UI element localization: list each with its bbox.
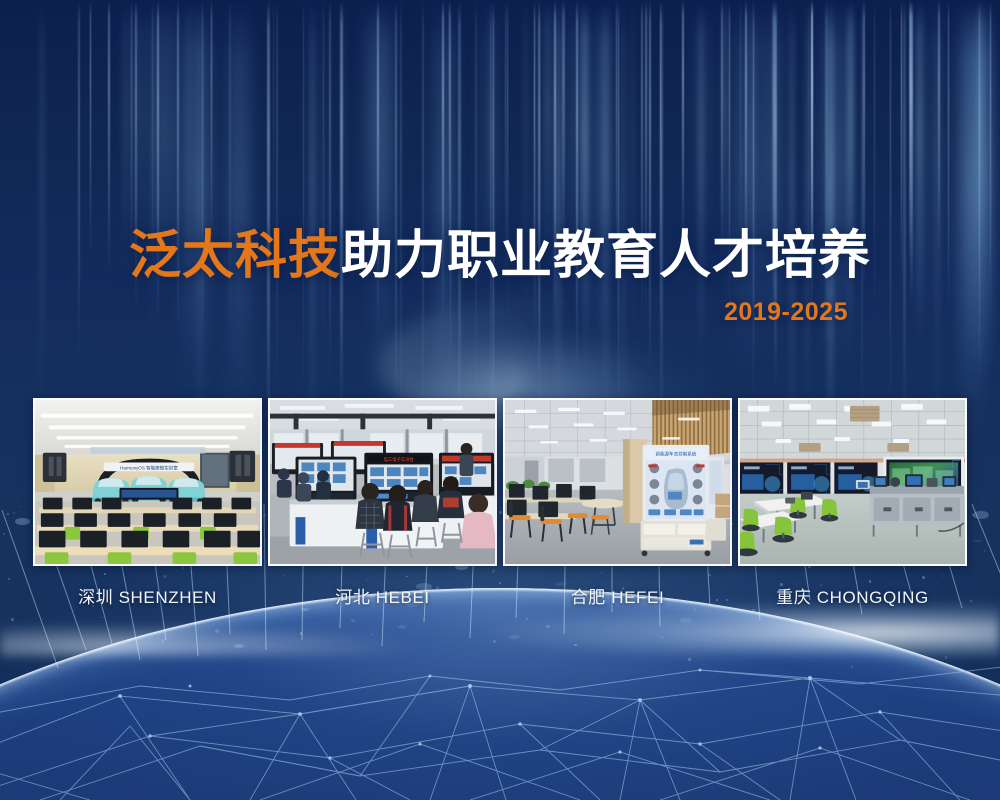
caption-chongqing: 重庆 CHONGQING	[738, 583, 967, 613]
gallery-photo-hebei[interactable]: 电工电子实训台	[268, 398, 497, 566]
gallery-photo-chongqing[interactable]	[738, 398, 967, 566]
gallery-photo-shenzhen[interactable]: HarmonyOS 智能座舱实训室	[33, 398, 262, 566]
photo-hefei-image: 新能源车总控制系统	[505, 400, 730, 564]
poster-stage: 泛太科技助力职业教育人才培养 2019-2025	[0, 0, 1000, 800]
caption-hebei: 河北 HEBEI	[268, 583, 497, 613]
globe-sphere	[0, 588, 1000, 800]
title-block: 泛太科技助力职业教育人才培养 2019-2025	[0, 228, 1000, 327]
caption-hefei: 合肥 HEFEI	[503, 583, 732, 613]
globe-rim-glow	[0, 588, 1000, 800]
photo-captions: 深圳 SHENZHEN 河北 HEBEI 合肥 HEFEI 重庆 CHONGQI…	[33, 583, 967, 613]
photo-shenzhen-image: HarmonyOS 智能座舱实训室	[35, 400, 260, 564]
page-title-brand: 泛太科技	[129, 227, 341, 285]
page-title-rest: 助力职业教育人才培养	[341, 227, 871, 285]
photo-hebei-image: 电工电子实训台	[270, 400, 495, 564]
year-range: 2019-2025	[0, 298, 1000, 327]
page-title: 泛太科技助力职业教育人才培养	[0, 228, 1000, 284]
caption-shenzhen: 深圳 SHENZHEN	[33, 583, 262, 613]
svg-text:新能源车总控制系统: 新能源车总控制系统	[656, 451, 697, 458]
photo-gallery: HarmonyOS 智能座舱实训室	[33, 398, 967, 566]
svg-text:HarmonyOS 智能座舱实训室: HarmonyOS 智能座舱实训室	[120, 464, 178, 471]
gallery-photo-hefei[interactable]: 新能源车总控制系统	[503, 398, 732, 566]
photo-chongqing-image	[740, 400, 965, 564]
svg-text:电工电子实训台: 电工电子实训台	[384, 456, 414, 463]
